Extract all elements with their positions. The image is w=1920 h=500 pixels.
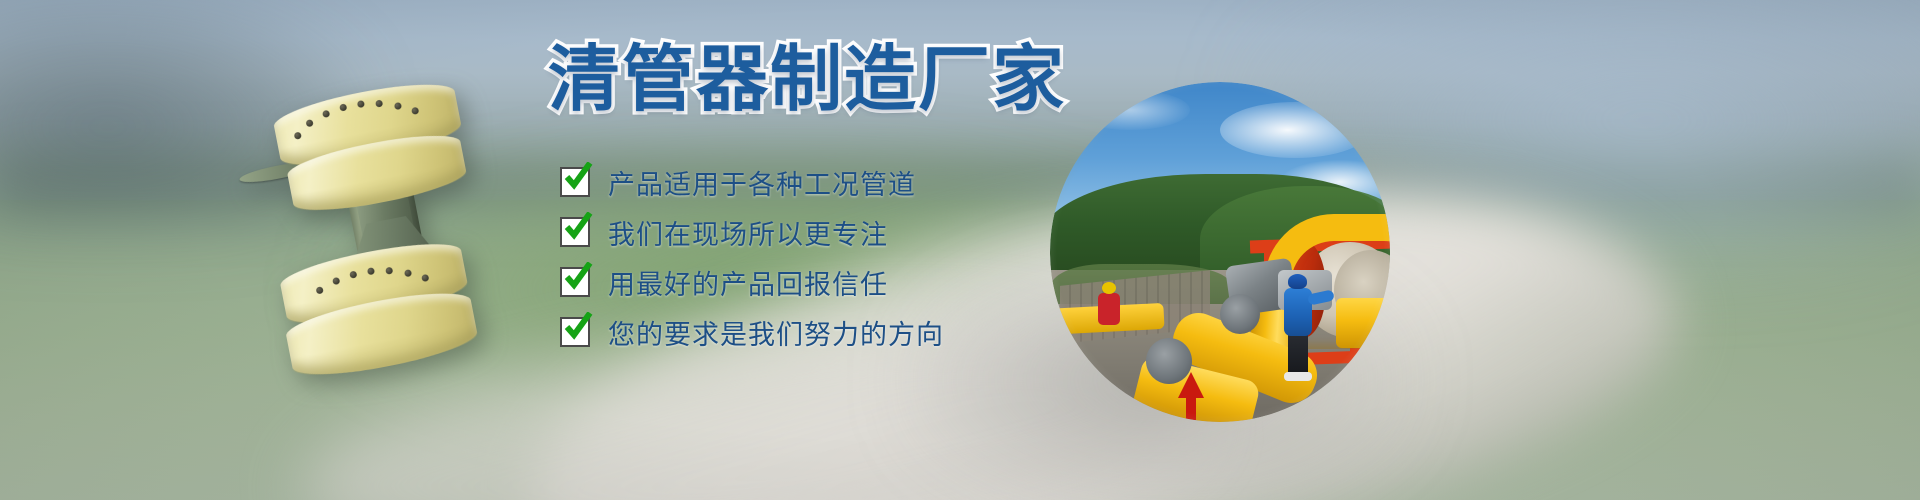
checkbox-checked-icon (560, 167, 590, 197)
photo-cloud (1070, 90, 1190, 130)
photo-worker-legs (1288, 332, 1308, 376)
photo-worker-helmet (1288, 274, 1307, 289)
feature-list-item: 产品适用于各种工况管道 (560, 158, 944, 206)
checkbox-checked-icon (560, 317, 590, 347)
photo-worker-background (1098, 293, 1120, 325)
feature-list-item-label: 用最好的产品回报信任 (608, 263, 888, 302)
checkbox-checked-icon (560, 267, 590, 297)
feature-list-item-label: 您的要求是我们努力的方向 (608, 313, 944, 352)
feature-list-item: 您的要求是我们努力的方向 (560, 308, 944, 356)
photo-worker-helmet (1102, 282, 1116, 294)
feature-list-item-label: 产品适用于各种工况管道 (608, 163, 916, 202)
gas-pipeline-site-circular-photo (1050, 82, 1390, 422)
feature-list-item-label: 我们在现场所以更专注 (608, 213, 888, 252)
photo-pipe-flange (1220, 294, 1260, 334)
photo-cloud (1220, 102, 1370, 158)
banner-headline: 清管器制造厂家 (548, 44, 1066, 116)
feature-list-item: 用最好的产品回报信任 (560, 258, 944, 306)
checkbox-checked-icon (560, 217, 590, 247)
feature-list-item: 我们在现场所以更专注 (560, 208, 944, 256)
pig-bolt-ring (233, 65, 521, 285)
feature-list: 产品适用于各种工况管道 我们在现场所以更专注 用最好的产品回报信任 (560, 158, 944, 358)
promo-banner: 清管器制造厂家 产品适用于各种工况管道 我们在现场所以更专注 (0, 0, 1920, 500)
photo-worker-shoes (1284, 372, 1312, 381)
polyurethane-pipeline-pig-product-photo (230, 48, 541, 382)
photo-flow-arrow-head (1178, 372, 1204, 398)
photo-yellow-pipe (1336, 298, 1390, 348)
